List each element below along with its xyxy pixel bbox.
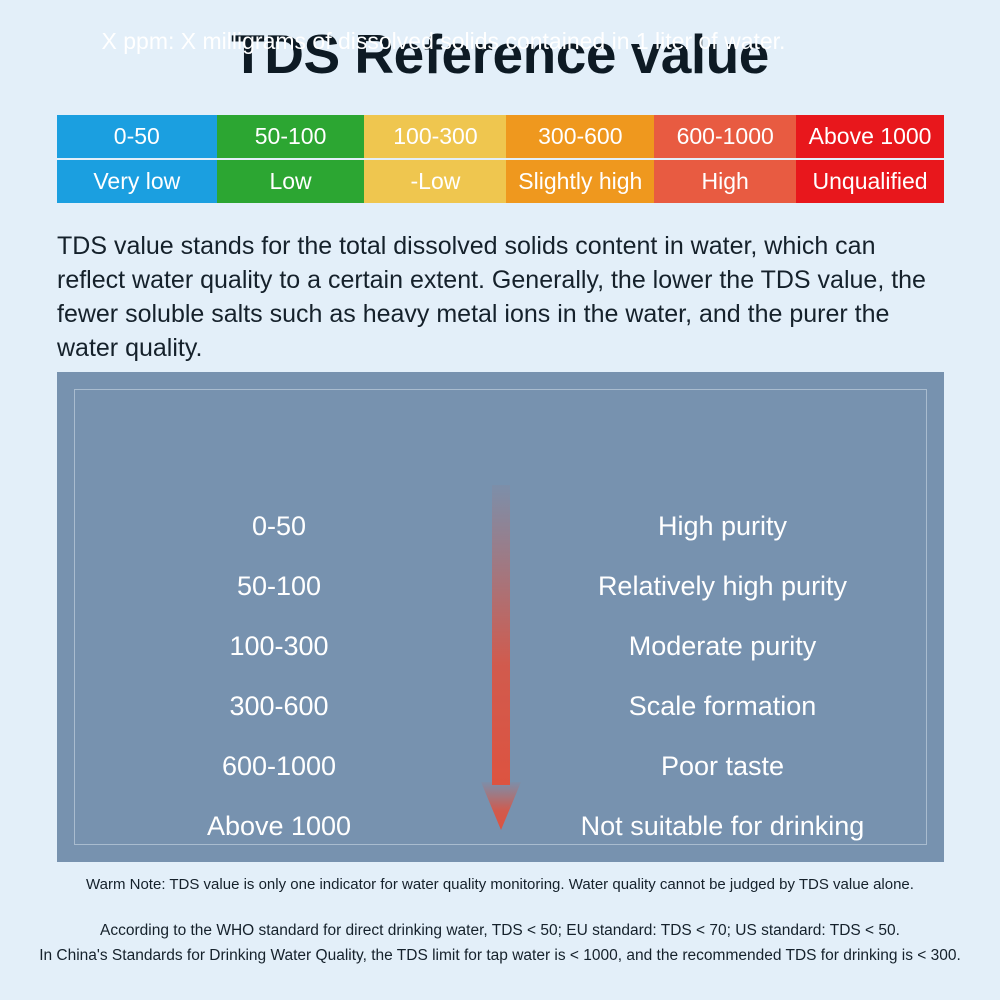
standards-line-1: According to the WHO standard for direct… <box>0 918 1000 943</box>
table-row: 300-600 Scale formation <box>57 676 944 736</box>
tds-rows-list: 0-50 High purity 50-100 Relatively high … <box>57 496 944 856</box>
legend-column-slightly-high: 300-600 Slightly high <box>506 115 654 203</box>
legend-column-low: 50-100 Low <box>217 115 365 203</box>
panel-heading-ppm-definition: X ppm: X milligrams of dissolved solids … <box>0 30 887 53</box>
legend-label-1: Low <box>217 160 365 203</box>
row-range-1: 50-100 <box>57 573 501 600</box>
row-description-0: High purity <box>501 513 944 540</box>
legend-range-5: Above 1000 <box>796 115 944 160</box>
warm-note: Warm Note: TDS value is only one indicat… <box>0 877 1000 892</box>
legend-label-3: Slightly high <box>506 160 654 203</box>
legend-label-2: -Low <box>364 160 506 203</box>
legend-range-3: 300-600 <box>506 115 654 160</box>
row-description-1: Relatively high purity <box>501 573 944 600</box>
table-row: 600-1000 Poor taste <box>57 736 944 796</box>
row-description-5: Not suitable for drinking <box>501 813 944 840</box>
row-range-0: 0-50 <box>57 513 501 540</box>
legend-range-2: 100-300 <box>364 115 506 160</box>
row-range-4: 600-1000 <box>57 753 501 780</box>
row-description-2: Moderate purity <box>501 633 944 660</box>
table-row: Above 1000 Not suitable for drinking <box>57 796 944 856</box>
row-range-5: Above 1000 <box>57 813 501 840</box>
legend-column-unqualified: Above 1000 Unqualified <box>796 115 944 203</box>
legend-column-very-low: 0-50 Very low <box>57 115 217 203</box>
row-range-3: 300-600 <box>57 693 501 720</box>
intro-paragraph: TDS value stands for the total dissolved… <box>57 229 937 365</box>
legend-label-0: Very low <box>57 160 217 203</box>
legend-label-4: High <box>654 160 796 203</box>
legend-range-0: 0-50 <box>57 115 217 160</box>
legend-column-slightly-low: 100-300 -Low <box>364 115 506 203</box>
table-row: 100-300 Moderate purity <box>57 616 944 676</box>
standards-note: According to the WHO standard for direct… <box>0 918 1000 968</box>
legend-range-4: 600-1000 <box>654 115 796 160</box>
row-description-4: Poor taste <box>501 753 944 780</box>
tds-color-legend: 0-50 Very low 50-100 Low 100-300 -Low 30… <box>57 115 944 203</box>
table-row: 0-50 High purity <box>57 496 944 556</box>
legend-column-high: 600-1000 High <box>654 115 796 203</box>
row-range-2: 100-300 <box>57 633 501 660</box>
standards-line-2: In China's Standards for Drinking Water … <box>0 943 1000 968</box>
legend-label-5: Unqualified <box>796 160 944 203</box>
row-description-3: Scale formation <box>501 693 944 720</box>
legend-range-1: 50-100 <box>217 115 365 160</box>
table-row: 50-100 Relatively high purity <box>57 556 944 616</box>
